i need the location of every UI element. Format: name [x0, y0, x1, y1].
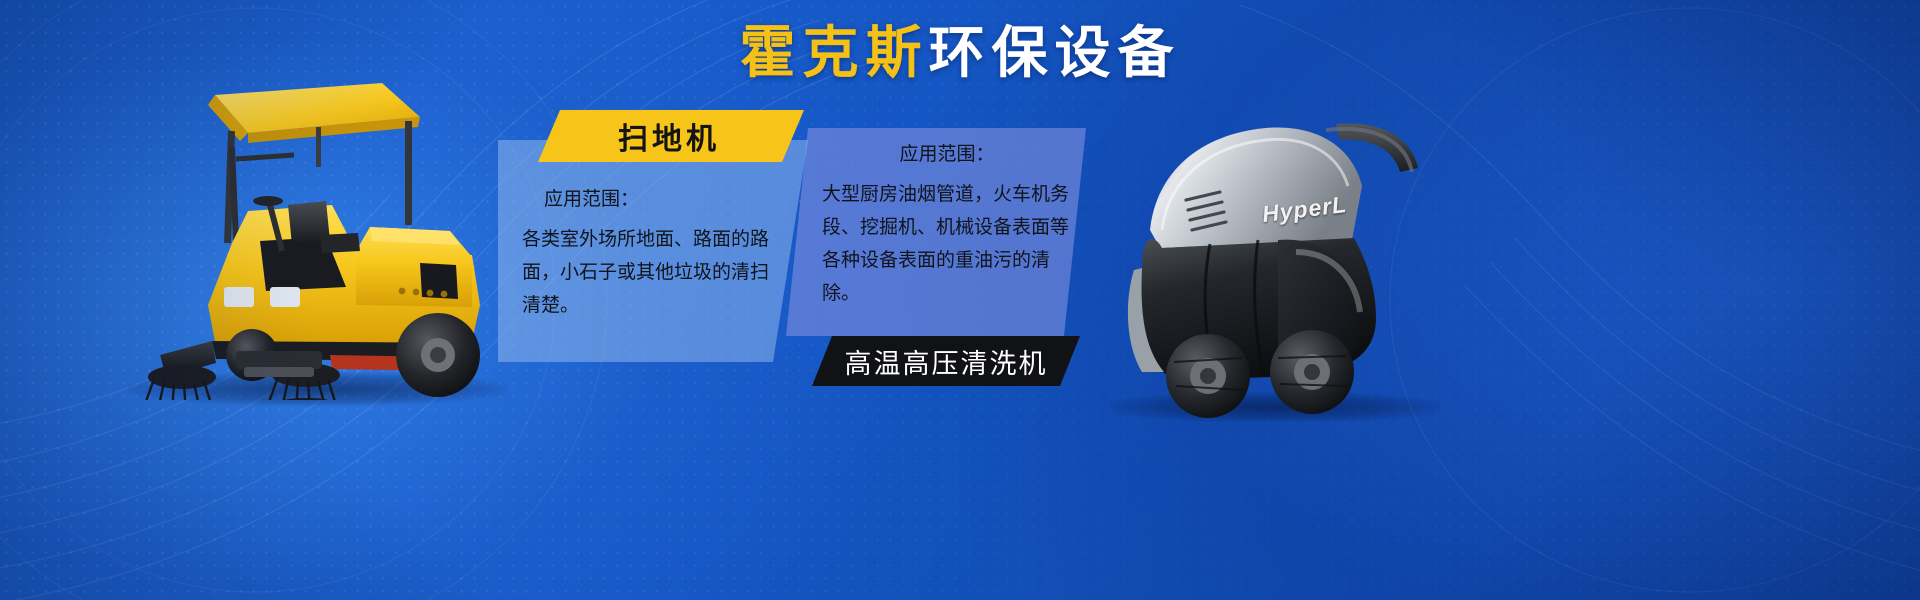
right-product-heading: 应用范围：	[822, 140, 1072, 170]
banner-title-rest: 环保设备	[929, 21, 1181, 84]
washer-category-tag-label: 高温高压清洗机	[845, 342, 1048, 381]
left-product-heading: 应用范围：	[522, 185, 774, 215]
right-product-description: 大型厨房油烟管道，火车机务段、挖掘机、机械设备表面等各种设备表面的重油污的清除。	[822, 178, 1072, 310]
washer-category-tag[interactable]: 高温高压清洗机	[812, 336, 1080, 386]
left-product-description: 各类室外场所地面、路面的路面，小石子或其他垃圾的清扫清楚。	[522, 223, 774, 322]
right-product-copy: 应用范围： 大型厨房油烟管道，火车机务段、挖掘机、机械设备表面等各种设备表面的重…	[822, 140, 1072, 310]
banner-title-highlight: 霍克斯	[740, 21, 929, 84]
sweeper-category-tag-label: 扫地机	[618, 114, 720, 158]
sweeper-product-image	[120, 55, 520, 400]
left-product-copy: 应用范围： 各类室外场所地面、路面的路面，小石子或其他垃圾的清扫清楚。	[522, 185, 774, 322]
sweeper-category-tag[interactable]: 扫地机	[538, 110, 804, 162]
promo-banner: 霍克斯环保设备	[0, 0, 1920, 600]
pressure-washer-product-image	[1090, 80, 1450, 420]
